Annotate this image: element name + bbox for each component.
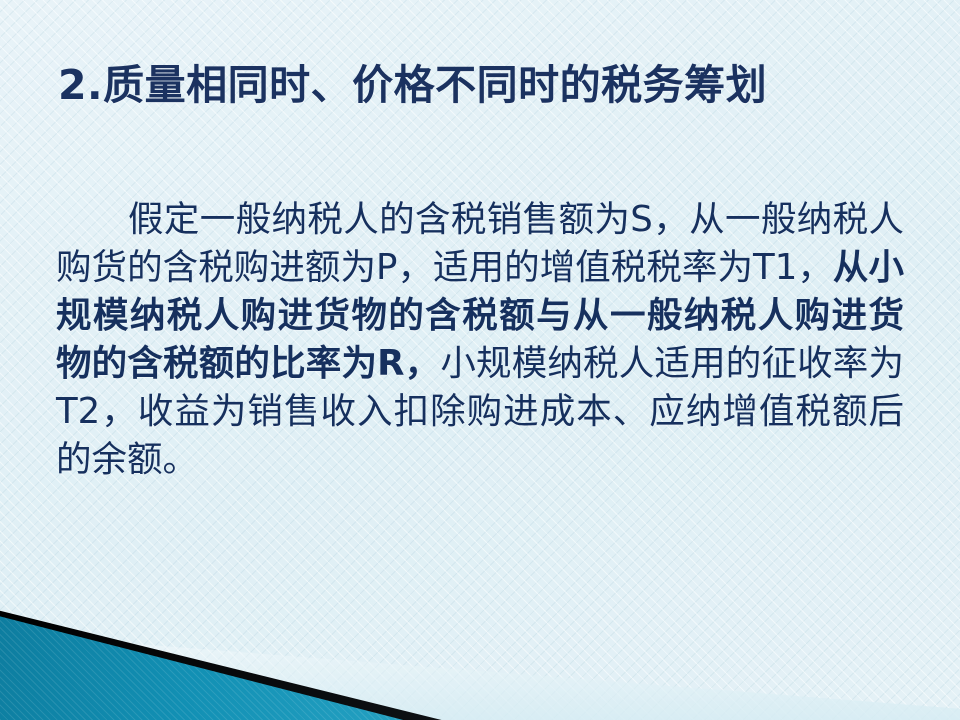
slide-title: 2.质量相同时、价格不同时的税务筹划 — [58, 62, 898, 109]
body-segment-1: 假定一般纳税人的含税销售额为S，从一般纳税人购货的含税购进额为P，适用的增值税税… — [56, 199, 904, 288]
title-block: 2.质量相同时、价格不同时的税务筹划 — [58, 62, 898, 109]
decoration-wash-band — [0, 580, 960, 720]
body-paragraph: 假定一般纳税人的含税销售额为S，从一般纳税人购货的含税购进额为P，适用的增值税税… — [56, 196, 904, 484]
corner-decoration — [0, 580, 960, 720]
decoration-black-wedge — [0, 580, 960, 720]
body-block: 假定一般纳税人的含税销售额为S，从一般纳税人购货的含税购进额为P，适用的增值税税… — [56, 196, 904, 484]
decoration-teal-triangle — [0, 580, 960, 720]
slide-canvas: 2.质量相同时、价格不同时的税务筹划 假定一般纳税人的含税销售额为S，从一般纳税… — [0, 0, 960, 720]
decoration-hatch-overlay — [0, 580, 960, 720]
